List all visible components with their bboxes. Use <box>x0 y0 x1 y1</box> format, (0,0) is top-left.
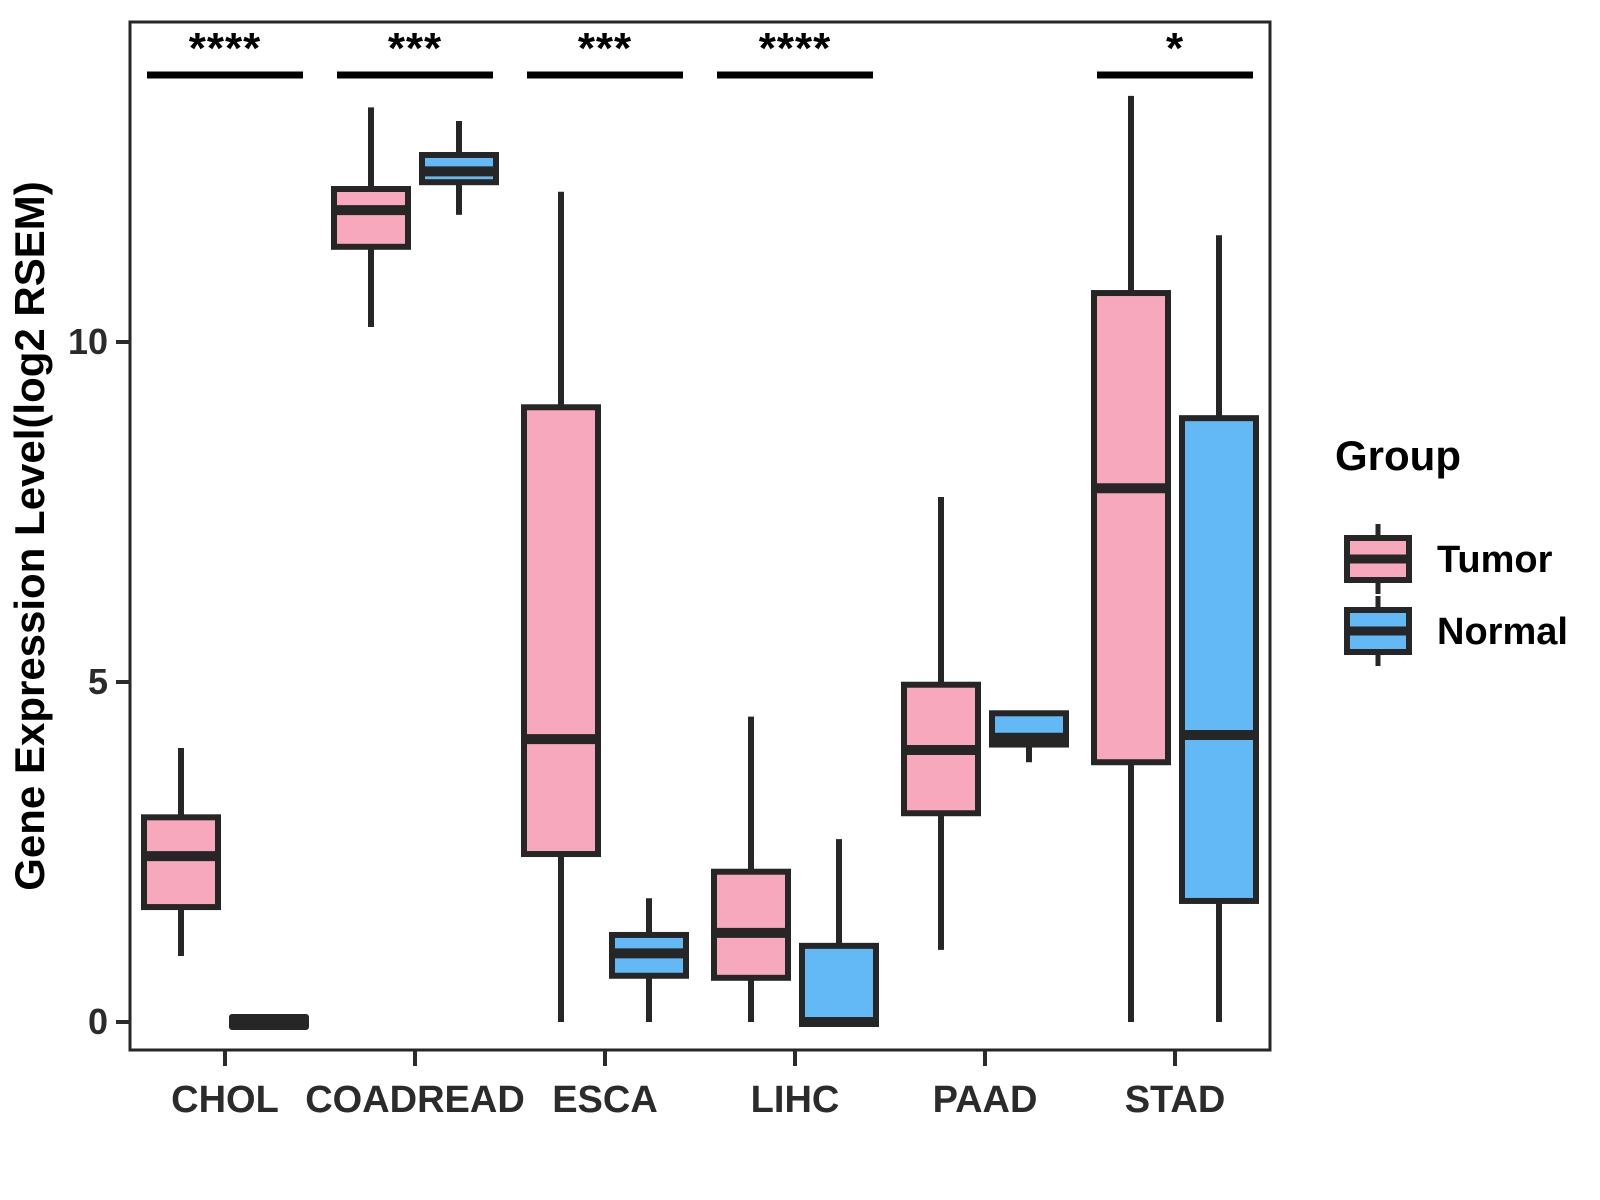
x-axis-tick-label-chol: CHOL <box>171 1079 279 1121</box>
legend-item-normal[interactable]: Normal <box>1344 596 1568 666</box>
y-axis: 0510 <box>68 321 130 1042</box>
box-chol-tumor-body <box>144 817 218 907</box>
x-axis-tick-label-esca: ESCA <box>552 1079 658 1121</box>
legend-label-normal: Normal <box>1437 611 1568 653</box>
chart-stage: 0510Gene Expression Level(log2 RSEM)CHOL… <box>0 0 1600 1200</box>
legend-title: Group <box>1335 432 1461 479</box>
box-lihc-normal-body <box>802 946 876 1022</box>
x-axis-tick-label-paad: PAAD <box>933 1079 1038 1121</box>
sig-label-coadread: *** <box>388 24 442 73</box>
x-axis-tick-label-lihc: LIHC <box>751 1079 840 1121</box>
y-axis-title: Gene Expression Level(log2 RSEM) <box>6 181 53 891</box>
y-axis-tick-label: 5 <box>88 661 108 702</box>
sig-label-chol: **** <box>189 24 262 73</box>
legend-label-tumor: Tumor <box>1437 539 1553 581</box>
x-axis-tick-label-stad: STAD <box>1125 1079 1226 1121</box>
sig-label-stad: * <box>1166 24 1184 73</box>
x-axis-tick-label-coadread: COADREAD <box>305 1079 525 1121</box>
legend-item-tumor[interactable]: Tumor <box>1344 524 1553 594</box>
box-chol-normal-body <box>232 1017 306 1027</box>
box-lihc-tumor-body <box>714 872 788 978</box>
boxplot-figure: 0510Gene Expression Level(log2 RSEM)CHOL… <box>0 0 1600 1200</box>
legend: GroupTumorNormal <box>1335 432 1568 666</box>
y-axis-tick-label: 10 <box>68 321 108 362</box>
y-axis-tick-label: 0 <box>88 1001 108 1042</box>
x-axis: CHOLCOADREADESCALIHCPAADSTAD <box>171 1050 1225 1121</box>
box-esca-tumor-body <box>524 407 598 854</box>
box-stad-tumor-body <box>1094 293 1168 762</box>
box-chol-normal <box>232 1017 306 1027</box>
box-coadread-tumor-body <box>334 189 408 247</box>
sig-label-esca: *** <box>578 24 632 73</box>
sig-label-lihc: **** <box>759 24 832 73</box>
box-stad-normal-body <box>1182 418 1256 901</box>
